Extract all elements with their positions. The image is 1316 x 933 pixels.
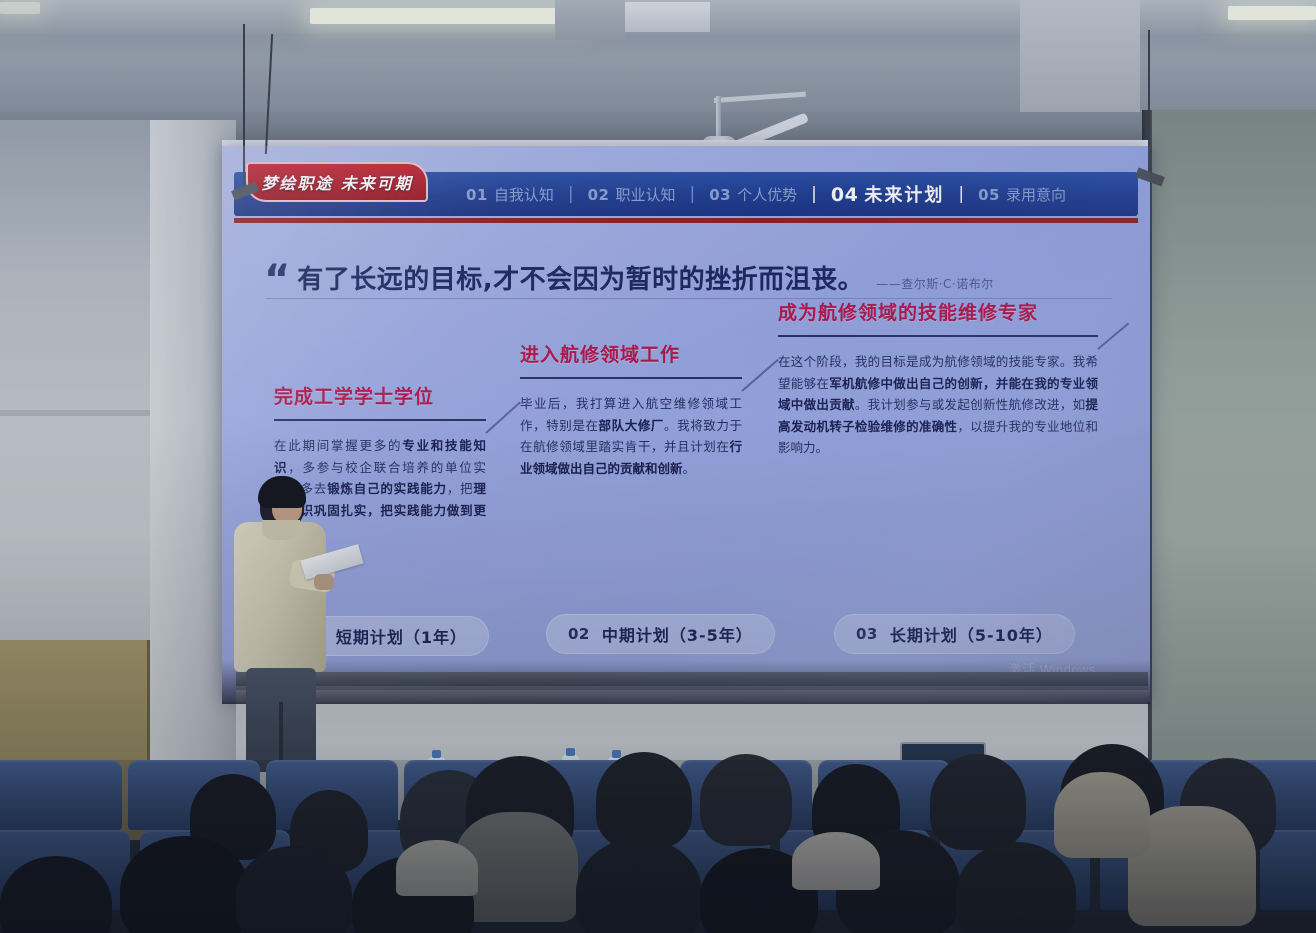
pill-label: 短期计划（1年） — [336, 624, 467, 648]
screen-hanger-wire — [243, 24, 245, 192]
stage-body: 毕业后，我打算进入航空维修领域工作，特别是在部队大修厂。我将致力于在航修领域里踏… — [520, 393, 742, 479]
pill-label: 中期计划（3-5年） — [602, 622, 753, 646]
ceiling-fan-rod — [716, 96, 721, 140]
projection-screen: 01 自我认知 | 02 职业认知 | 03 个人优势 | 04 — [222, 146, 1150, 702]
fan-mount-arm — [714, 92, 806, 103]
plan-pill-row: 01 短期计划（1年） 02 中期计划（3-5年） 03 长期计划（5-10年） — [222, 614, 1150, 658]
stage-rule — [778, 335, 1098, 337]
stage-body: 在这个阶段，我的目标是成为航修领域的技能专家。我希望能够在军机航修中做出自己的创… — [778, 351, 1098, 459]
ceiling-bulkhead — [1020, 0, 1140, 116]
stage-title: 进入航修领域工作 — [520, 340, 742, 367]
fluorescent-light — [1228, 6, 1316, 20]
audience-member — [700, 754, 792, 846]
pill-label: 长期计划（5-10年） — [890, 622, 1053, 646]
stage-rule — [274, 419, 486, 421]
audience-member-cap — [396, 840, 478, 896]
audience-member — [930, 754, 1026, 850]
audience-area — [0, 760, 1316, 933]
wall-stripe — [0, 410, 150, 416]
stage-title: 完成工学学士学位 — [274, 382, 486, 409]
audience-member-cap — [792, 832, 880, 890]
timeline-connector — [1097, 323, 1129, 350]
timeline-connector — [741, 359, 779, 392]
plan-pill-mid-term[interactable]: 02 中期计划（3-5年） — [546, 614, 775, 654]
fluorescent-light — [310, 8, 580, 24]
screen-hanger-wire — [1148, 30, 1150, 180]
stage-title: 成为航修领域的技能维修专家 — [778, 298, 1098, 325]
presenter-torso — [234, 522, 326, 672]
presenter-hand — [314, 574, 334, 590]
audience-member — [1054, 772, 1150, 858]
audience-member — [596, 752, 692, 848]
classroom-scene: 01 自我认知 | 02 职业认知 | 03 个人优势 | 04 — [0, 0, 1316, 933]
pill-number: 02 — [568, 625, 590, 643]
timeline-connector — [485, 401, 521, 433]
timeline-stage-3: 成为航修领域的技能维修专家 在这个阶段，我的目标是成为航修领域的技能专家。我希望… — [778, 298, 1098, 459]
auditorium-seat — [0, 760, 122, 830]
stage-rule — [520, 377, 742, 379]
plan-pill-long-term[interactable]: 03 长期计划（5-10年） — [834, 614, 1075, 654]
fluorescent-light — [0, 2, 40, 14]
pill-number: 03 — [856, 625, 878, 643]
presenter-hair — [258, 476, 306, 508]
presentation-slide: 01 自我认知 | 02 职业认知 | 03 个人优势 | 04 — [222, 146, 1150, 702]
presenter-collar — [262, 520, 300, 540]
ceiling-bulkhead — [555, 0, 625, 40]
right-wall — [1148, 110, 1316, 810]
timeline-stage-2: 进入航修领域工作 毕业后，我打算进入航空维修领域工作，特别是在部队大修厂。我将致… — [520, 340, 742, 479]
presenter — [228, 470, 340, 770]
